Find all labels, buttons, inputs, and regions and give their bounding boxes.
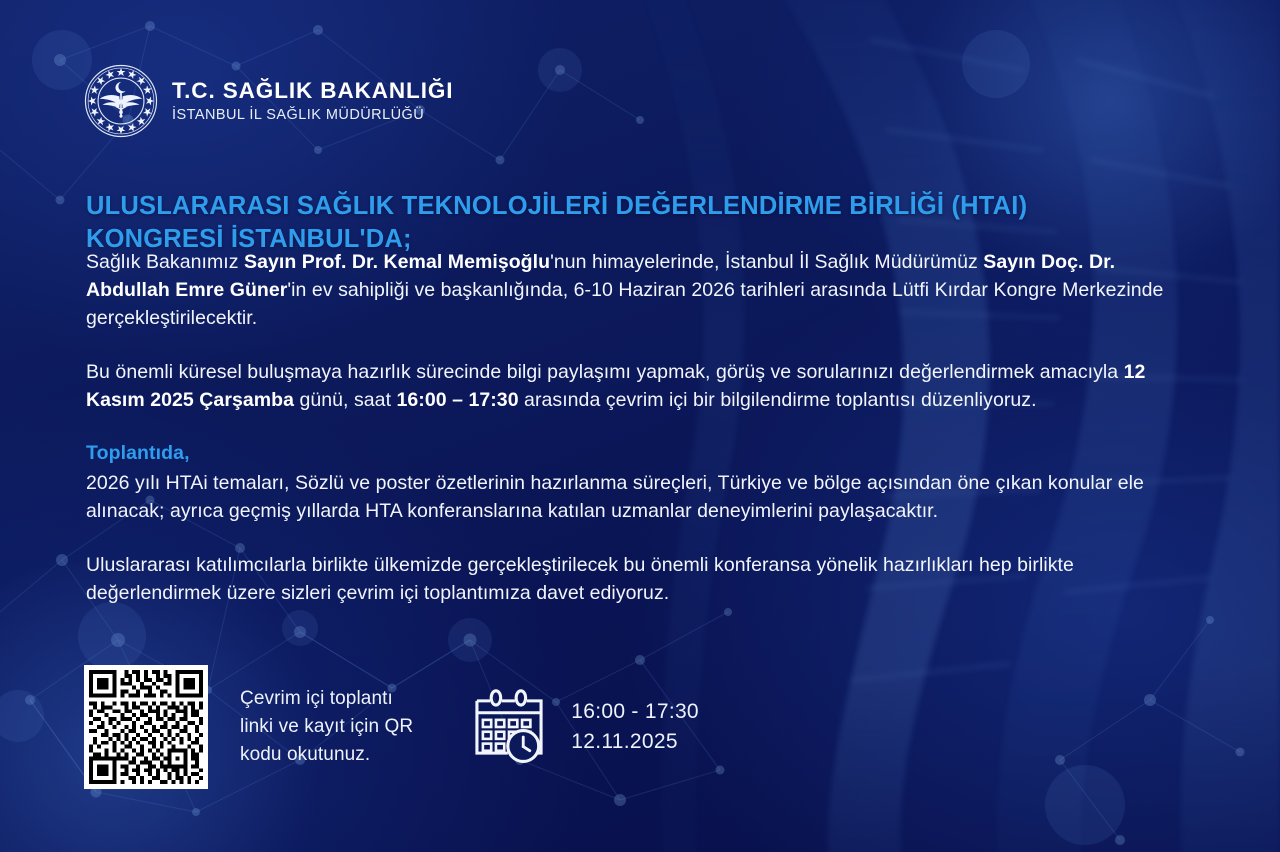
paragraph-3: Toplantıda,2026 yılı HTAi temaları, Sözl… <box>86 440 1191 526</box>
p2-bold-time: 16:00 – 17:30 <box>397 389 519 411</box>
p3-body: 2026 yılı HTAi temaları, Sözlü ve poster… <box>86 472 1144 522</box>
qr-code-icon[interactable] <box>84 665 208 789</box>
poster-canvas: T.C. SAĞLIK BAKANLIĞI İSTANBUL İL SAĞLIK… <box>0 0 1280 852</box>
p2-text-2: günü, saat <box>294 389 397 411</box>
event-datetime-block: 16:00 - 17:30 12.11.2025 <box>471 689 699 765</box>
ministry-logo: T.C. SAĞLIK BAKANLIĞI İSTANBUL İL SAĞLIK… <box>84 64 453 138</box>
agenda-heading: Toplantıda, <box>86 440 1191 468</box>
p2-text-1: Bu önemli küresel buluşmaya hazırlık sür… <box>86 361 1124 383</box>
paragraph-2: Bu önemli küresel buluşmaya hazırlık sür… <box>86 359 1191 415</box>
p1-bold-minister: Sayın Prof. Dr. Kemal Memişoğlu <box>244 251 550 273</box>
page-title: ULUSLARARASI SAĞLIK TEKNOLOJİLERİ DEĞERL… <box>86 190 1196 256</box>
event-datetime-text: 16:00 - 17:30 12.11.2025 <box>571 697 699 758</box>
calendar-clock-icon <box>471 689 547 765</box>
body-copy: Sağlık Bakanımız Sayın Prof. Dr. Kemal M… <box>86 249 1191 608</box>
paragraph-1: Sağlık Bakanımız Sayın Prof. Dr. Kemal M… <box>86 249 1191 333</box>
qr-caption: Çevrim içi toplantı linki ve kayıt için … <box>240 685 413 769</box>
ministry-name: T.C. SAĞLIK BAKANLIĞI <box>172 80 453 103</box>
turkish-health-ministry-crest-icon <box>84 64 158 138</box>
p1-text-2: 'nun himayelerinde, İstanbul İl Sağlık M… <box>550 251 983 273</box>
p2-text-3: arasında çevrim içi bir bilgilendirme to… <box>519 389 1037 411</box>
event-time: 16:00 - 17:30 <box>571 700 699 723</box>
p1-text-1: Sağlık Bakanımız <box>86 251 244 273</box>
paragraph-4: Uluslararası katılımcılarla birlikte ülk… <box>86 552 1191 608</box>
footer-section: Çevrim içi toplantı linki ve kayıt için … <box>84 665 699 789</box>
headline-line-1: ULUSLARARASI SAĞLIK TEKNOLOJİLERİ DEĞERL… <box>86 192 1027 220</box>
p4-body: Uluslararası katılımcılarla birlikte ülk… <box>86 554 1074 604</box>
directorate-name: İSTANBUL İL SAĞLIK MÜDÜRLÜĞÜ <box>172 108 453 123</box>
event-date: 12.11.2025 <box>571 730 678 753</box>
